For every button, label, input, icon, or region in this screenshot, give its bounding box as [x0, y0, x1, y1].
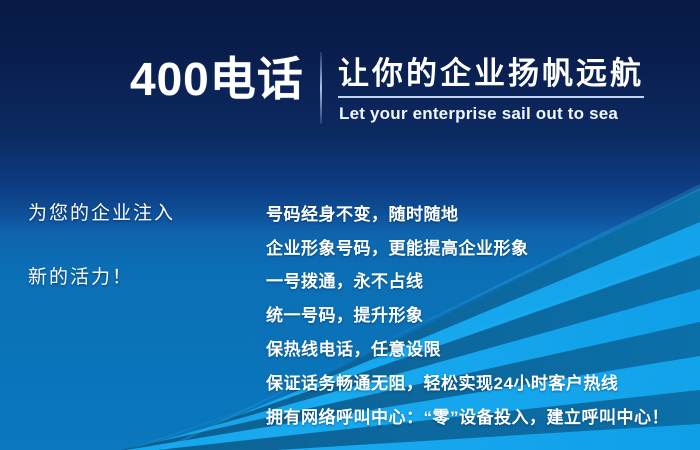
feature-item-3: 一号拨通，永不占线: [266, 267, 424, 292]
feature-list: 号码经身不变，随时随地 企业形象号码，更能提高企业形象 一号拨通，永不占线 统一…: [0, 0, 700, 450]
promo-banner: 400电话 让你的企业扬帆远航 Let your enterprise sail…: [0, 0, 700, 450]
feature-item-4: 统一号码，提升形象: [266, 301, 424, 326]
feature-item-1: 号码经身不变，随时随地: [266, 200, 459, 225]
feature-item-7: 拥有网络呼叫中心：“零”设备投入，建立呼叫中心！: [266, 403, 669, 428]
feature-item-6: 保证话务畅通无阻，轻松实现24小时客户热线: [266, 369, 618, 394]
feature-item-5: 保热线电话，任意设限: [266, 335, 441, 360]
feature-item-2: 企业形象号码，更能提高企业形象: [266, 234, 529, 259]
